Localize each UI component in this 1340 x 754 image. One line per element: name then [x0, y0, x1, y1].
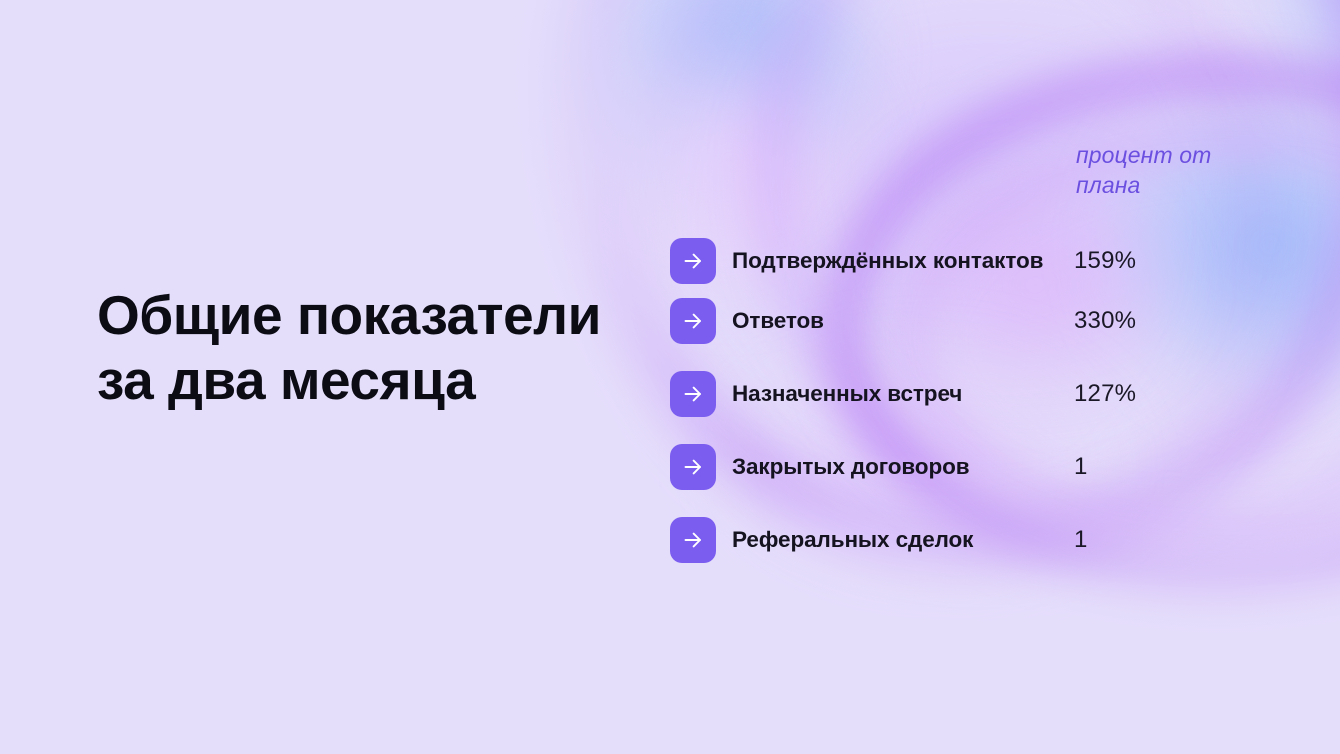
- metric-value: 127%: [1074, 371, 1224, 408]
- list-item[interactable]: Подтверждённых контактов 159%: [670, 238, 1270, 298]
- gradient-blue-blob-left: [470, 0, 940, 275]
- metric-label: Реферальных сделок: [732, 517, 1074, 554]
- metric-label: Подтверждённых контактов: [732, 238, 1074, 275]
- metric-label: Закрытых договоров: [732, 444, 1074, 481]
- metric-value: 159%: [1074, 238, 1224, 275]
- metric-value: 1: [1074, 517, 1224, 554]
- metrics-list: Подтверждённых контактов 159% Ответов 33…: [670, 238, 1270, 590]
- page-title: Общие показатели за два месяца: [97, 283, 617, 413]
- slide: Общие показатели за два месяца процент о…: [0, 0, 1340, 754]
- metrics-column-header: процент от плана: [1076, 140, 1266, 201]
- list-item[interactable]: Реферальных сделок 1: [670, 517, 1270, 590]
- metric-label: Назначенных встреч: [732, 371, 1074, 408]
- list-item[interactable]: Ответов 330%: [670, 298, 1270, 371]
- arrow-right-icon: [670, 517, 716, 563]
- metric-value: 330%: [1074, 298, 1224, 335]
- arrow-right-icon: [670, 238, 716, 284]
- arrow-right-icon: [670, 298, 716, 344]
- list-item[interactable]: Назначенных встреч 127%: [670, 371, 1270, 444]
- arrow-right-icon: [670, 371, 716, 417]
- list-item[interactable]: Закрытых договоров 1: [670, 444, 1270, 517]
- metric-label: Ответов: [732, 298, 1074, 335]
- arrow-right-icon: [670, 444, 716, 490]
- metric-value: 1: [1074, 444, 1224, 481]
